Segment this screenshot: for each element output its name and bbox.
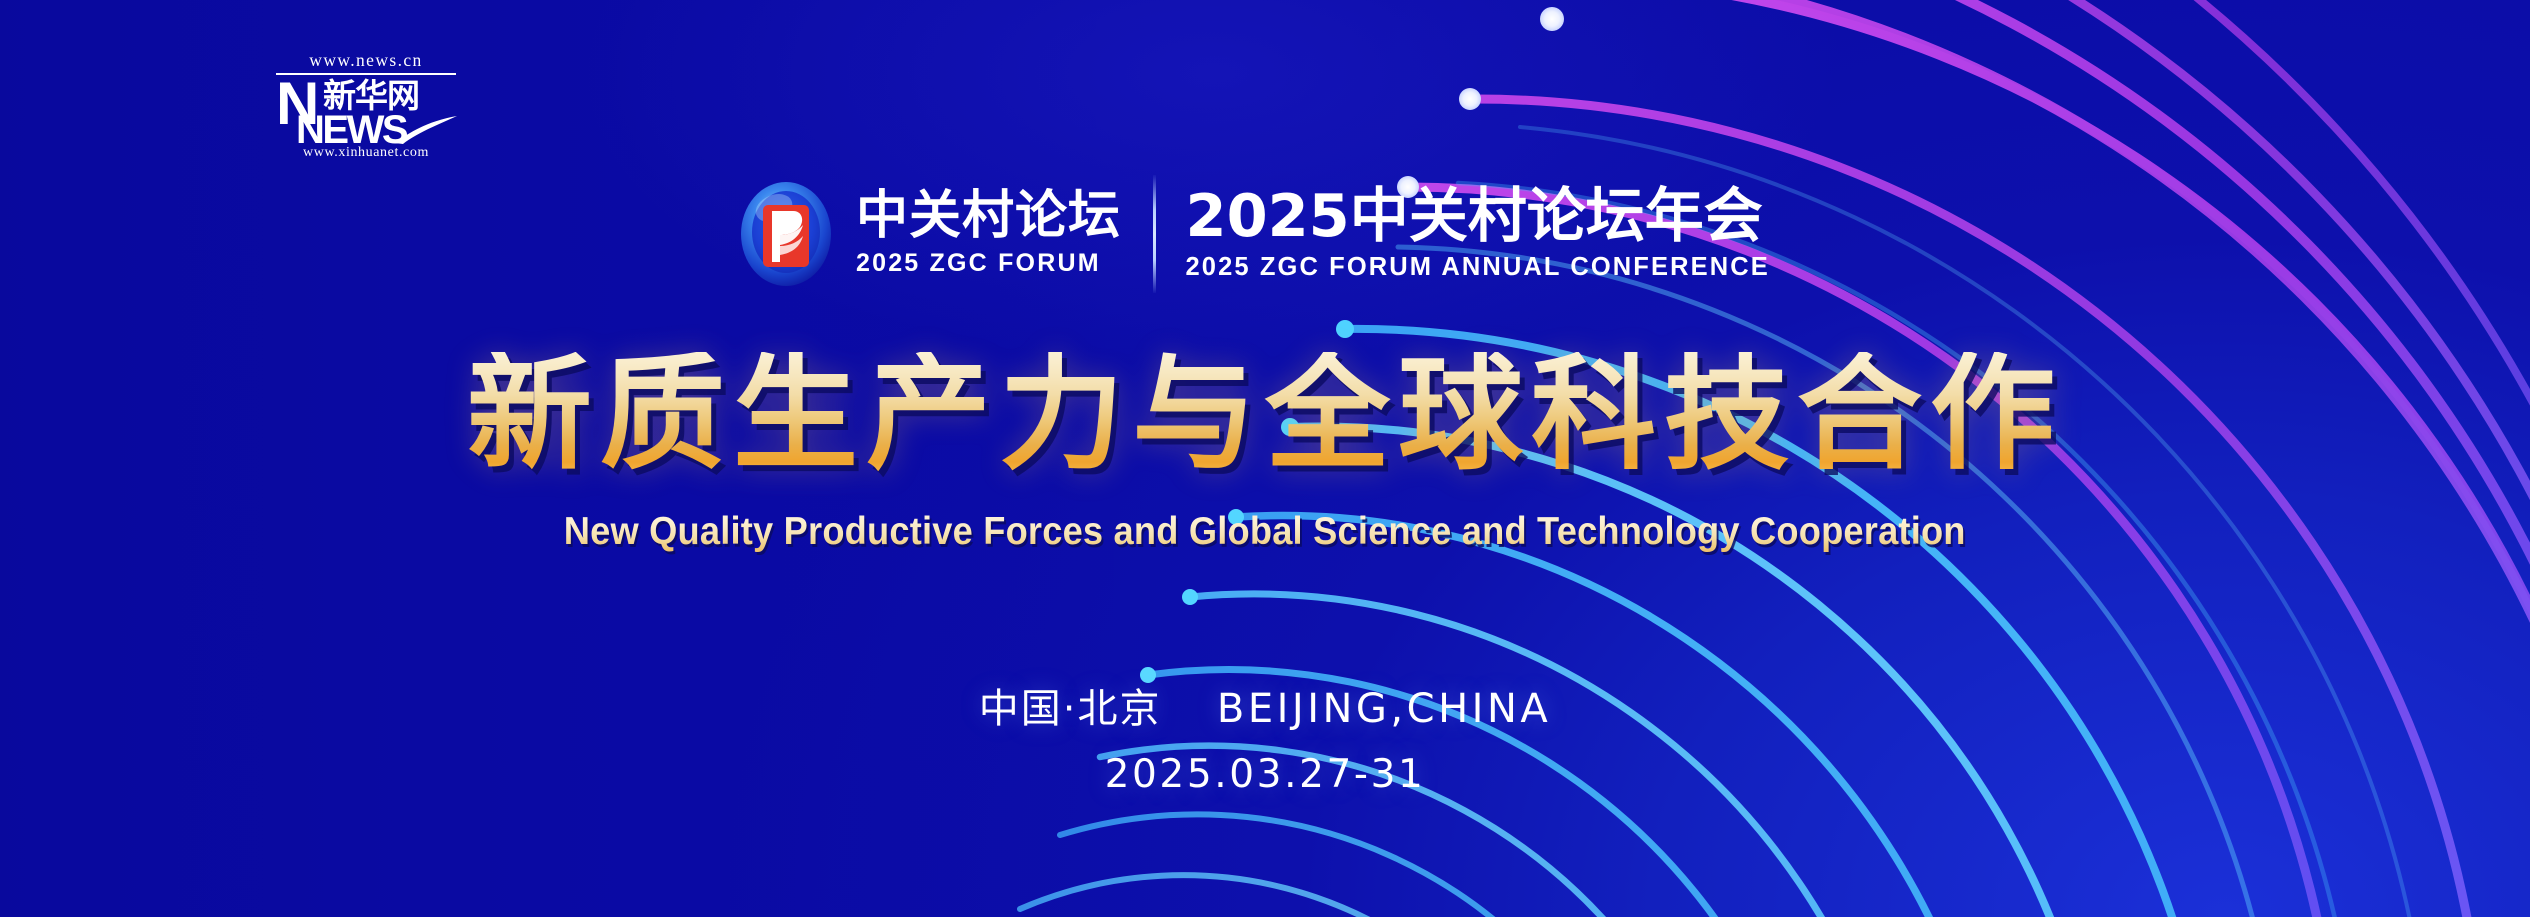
lockup-divider — [1153, 175, 1156, 293]
headline-english: New Quality Productive Forces and Global… — [564, 510, 1966, 554]
headline-area: 新质生产力与全球科技合作 — [0, 352, 2530, 477]
conference-name-chinese: 2025中关村论坛年会 — [1186, 186, 1770, 246]
xinhua-logo[interactable]: www.news.cn N 新华网 NEWS www.xinhuanet.com — [276, 52, 461, 164]
event-location-english: BEIJING,CHINA — [1217, 686, 1551, 732]
subtitle-area: New Quality Productive Forces and Global… — [0, 510, 2530, 554]
forum-name-block: 中关村论坛 2025 ZGC FORUM — [856, 190, 1121, 277]
forum-lockup: 中关村论坛 2025 ZGC FORUM 2025中关村论坛年会 2025 ZG… — [730, 170, 1770, 298]
zgc-emblem-icon — [730, 178, 842, 290]
event-date: 2025.03.27-31 — [0, 752, 2530, 797]
conference-banner: www.news.cn N 新华网 NEWS www.xinhuanet.com — [0, 0, 2530, 917]
event-location-chinese: 中国·北京 — [979, 686, 1162, 732]
conference-name-english: 2025 ZGC FORUM ANNUAL CONFERENCE — [1186, 253, 1770, 282]
xinhua-chinese-name: 新华网 — [323, 79, 419, 112]
swoosh-icon — [393, 114, 459, 144]
forum-name-chinese: 中关村论坛 — [856, 190, 1121, 243]
xinhua-wordmark: N 新华网 NEWS — [276, 77, 456, 149]
conference-name-block: 2025中关村论坛年会 2025 ZGC FORUM ANNUAL CONFER… — [1186, 186, 1770, 281]
xinhua-news-text: NEWS — [296, 110, 406, 150]
forum-name-english: 2025 ZGC FORUM — [856, 249, 1121, 278]
headline-chinese: 新质生产力与全球科技合作 — [455, 352, 2075, 477]
event-location: 中国·北京 BEIJING,CHINA — [0, 676, 2530, 734]
